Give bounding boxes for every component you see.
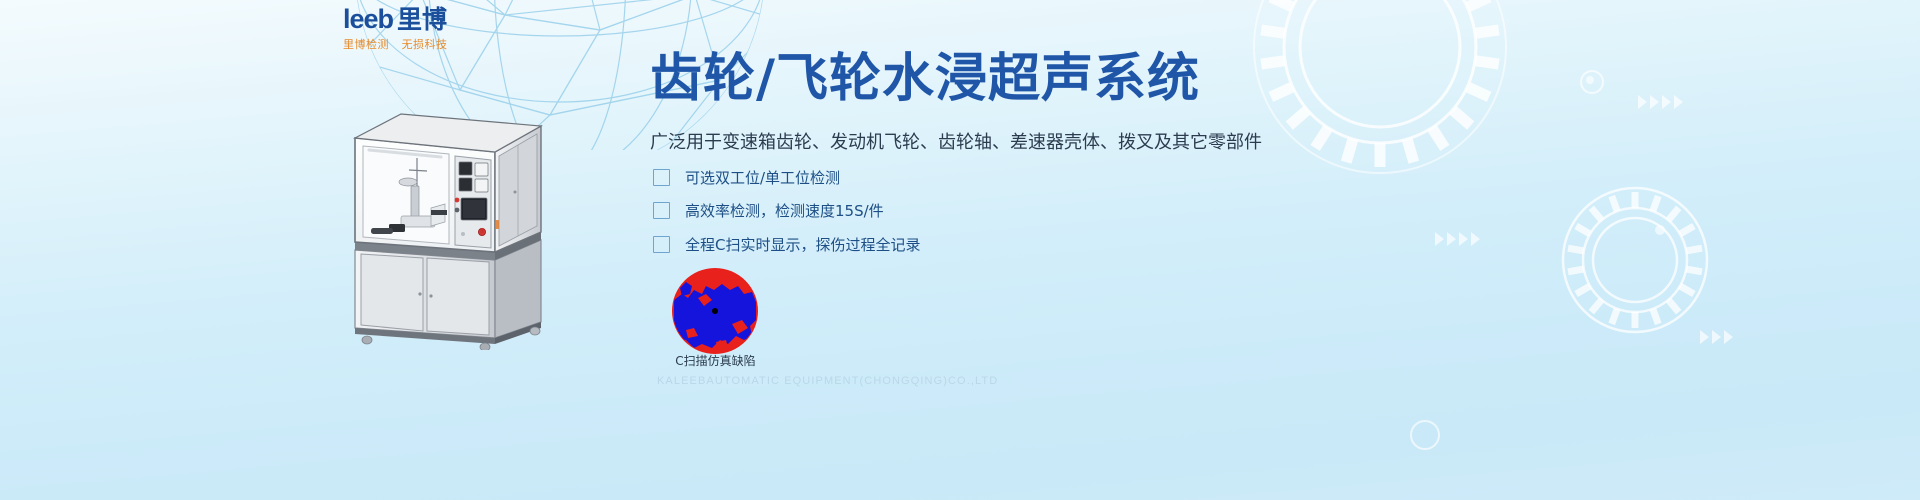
logo-tagline-left: 里博检测	[343, 39, 389, 51]
product-banner: leeb 里博 里博检测 无损科技	[0, 0, 1920, 500]
chevron-right-icon	[1700, 330, 1733, 344]
feature-item: 可选双工位/单工位检测	[653, 167, 840, 188]
feature-label: 全程C扫实时显示，探伤过程全记录	[685, 234, 920, 255]
cscan-caption: C扫描仿真缺陷	[668, 352, 763, 369]
logo-chinese: 里博	[397, 7, 447, 34]
feature-label: 可选双工位/单工位检测	[685, 167, 840, 188]
checkbox-icon[interactable]	[653, 236, 670, 253]
page-subtitle: 广泛用于变速箱齿轮、发动机飞轮、齿轮轴、差速器壳体、拨叉及其它零部件	[650, 128, 1262, 154]
feature-item: 高效率检测，检测速度15S/件	[653, 200, 884, 221]
chevron-right-icon	[1638, 95, 1683, 109]
logo-wordmark: leeb 里博	[343, 6, 471, 34]
decor-dot	[1586, 76, 1594, 84]
feature-item: 全程C扫实时显示，探伤过程全记录	[653, 234, 920, 255]
logo-tagline: 里博检测 无损科技	[343, 36, 471, 52]
company-logo[interactable]: leeb 里博 里博检测 无损科技	[343, 6, 471, 48]
logo-tagline-right: 无损科技	[402, 39, 448, 51]
cscan-center-dot	[712, 308, 718, 314]
gear-outline-icon-secondary	[1535, 160, 1735, 360]
decor-circle	[1580, 70, 1604, 94]
logo-latin: leeb	[343, 6, 393, 33]
page-title: 齿轮/飞轮水浸超声系统	[650, 50, 1200, 108]
feature-label: 高效率检测，检测速度15S/件	[685, 200, 884, 221]
checkbox-icon[interactable]	[653, 202, 670, 219]
decor-circle	[1410, 420, 1440, 450]
cscan-result-image	[672, 268, 758, 354]
chevron-right-icon	[1435, 232, 1480, 246]
machine-product-image	[345, 100, 580, 350]
decor-dot	[1655, 225, 1665, 235]
checkbox-icon[interactable]	[653, 169, 670, 186]
gear-outline-icon	[1215, 0, 1545, 212]
company-watermark: KALEEBAUTOMATIC EQUIPMENT(CHONGQING)CO.,…	[657, 375, 998, 387]
cscan-disc	[672, 268, 758, 354]
